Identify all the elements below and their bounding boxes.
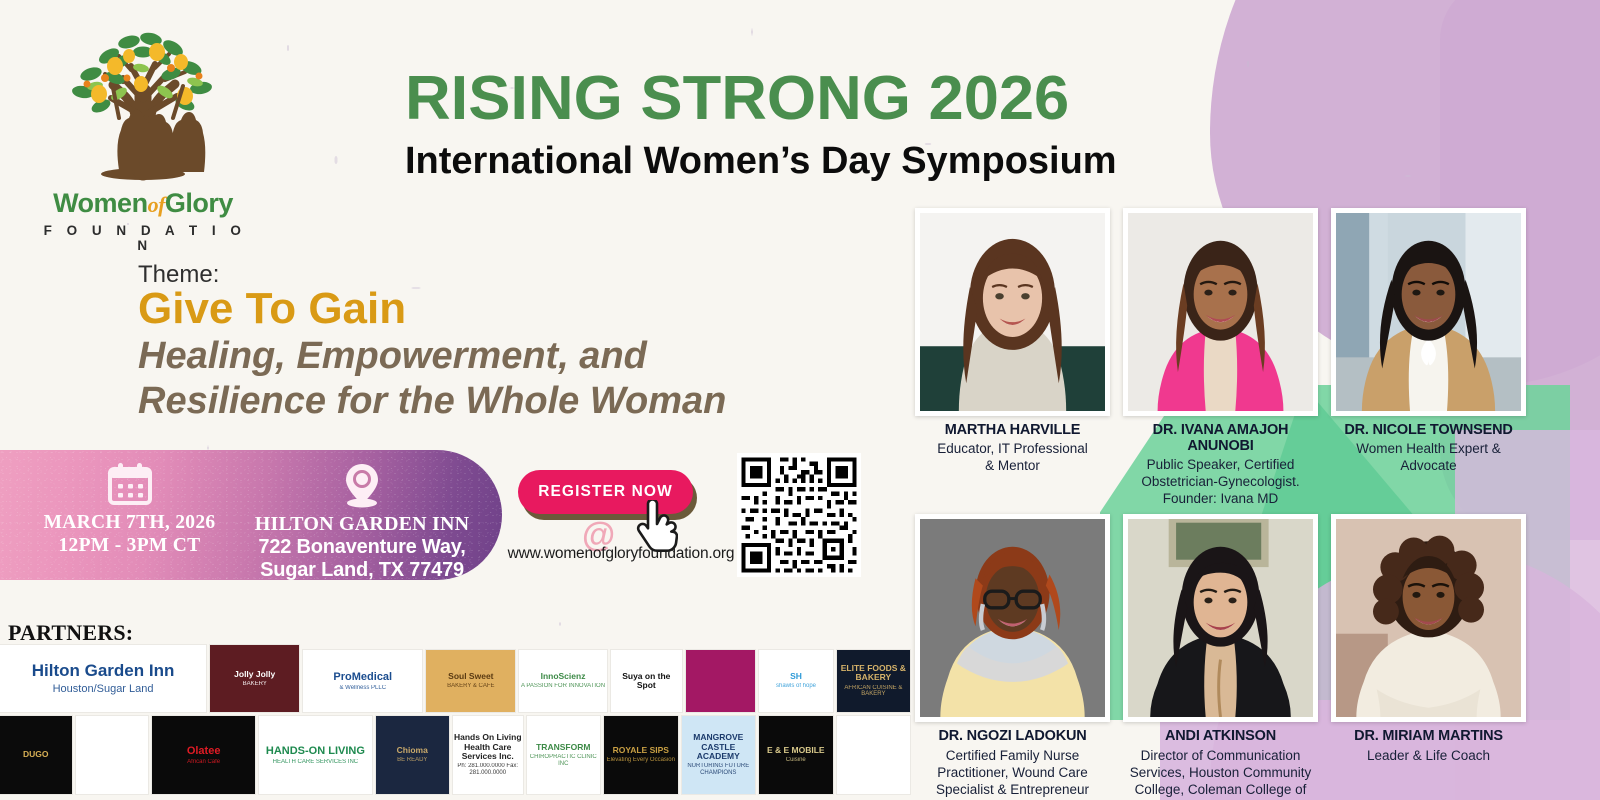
speaker-photo-nicole-townsend — [1331, 208, 1526, 416]
speaker-photo-miriam-martins — [1331, 514, 1526, 722]
partner-logos: Hilton Garden InnHouston/Sugar LandJolly… — [0, 645, 910, 794]
partner-logo-promedical-wellness-pllc[interactable]: ProMedical& Wellness PLLC — [303, 650, 422, 712]
logo-word-of: of — [148, 192, 165, 217]
partner-logo-name: Hilton Garden Inn — [31, 661, 176, 682]
partner-logo-tagline: NURTURING FUTURE CHAMPIONS — [682, 762, 756, 777]
partner-logo-name — [872, 754, 874, 756]
theme-headline: Give To Gain — [138, 286, 898, 332]
speaker-card[interactable]: MARTHA HARVILLE Educator, IT Professiona… — [915, 208, 1110, 507]
theme-sub-line-2: Resilience for the Whole Woman — [138, 380, 898, 423]
partner-logo-name: Suya on the Spot — [611, 671, 682, 692]
website-url[interactable]: www.womenofgloryfoundation.org — [497, 545, 745, 563]
theme-block: Theme: Give To Gain Healing, Empowerment… — [138, 262, 898, 423]
speaker-card[interactable]: DR. IVANA AMAJOH ANUNOBI Public Speaker,… — [1123, 208, 1318, 507]
venue-address-line-1: 722 Bonaventure Way, — [237, 536, 487, 558]
partner-logo-soul-sweet-bakery-cafe[interactable]: Soul SweetBAKERY & CAFE — [426, 650, 515, 712]
speaker-card[interactable]: DR. NICOLE TOWNSEND Women Health Expert … — [1331, 208, 1526, 507]
qr-code-image — [737, 453, 861, 577]
partner-logo-transform-chiropractic-clinic-inc[interactable]: TRANSFORMCHIROPRACTIC CLINIC INC — [527, 716, 601, 794]
speaker-card[interactable]: ANDI ATKINSON Director of Communication … — [1123, 514, 1318, 800]
partner-logo-chioma-be-ready[interactable]: ChiomaBE READY — [376, 716, 450, 794]
speaker-card[interactable]: DR. MIRIAM MARTINS Leader & Life Coach — [1331, 514, 1526, 800]
partner-logo-hands-on-living-health-care-services-inc[interactable]: Hands On Living Health Care Services Inc… — [453, 716, 523, 794]
qr-code[interactable] — [737, 453, 861, 577]
speaker-photo-ivana-amajoh-anunobi — [1123, 208, 1318, 416]
partner-logo-name: HANDS-ON LIVING — [265, 744, 366, 758]
date-column: MARCH 7TH, 2026 12PM - 3PM CT — [12, 462, 247, 557]
event-subtitle: International Women’s Day Symposium — [405, 142, 1145, 180]
partner-logo-name: ROYALE SIPS — [612, 745, 670, 756]
partner-logo-name: InnoScienz — [540, 671, 587, 682]
speaker-title: Women Health Expert & Advocate — [1331, 440, 1526, 474]
partner-logo-magenta-diamond-brand[interactable] — [686, 650, 755, 712]
partner-logo-name: Jolly Jolly — [233, 669, 276, 680]
cta-block: REGISTER NOW @ www.womenofgloryfoundatio… — [498, 470, 748, 514]
partner-logo-dugo[interactable]: DUGO — [0, 716, 72, 794]
partner-logo-e-e-mobile-cuisine[interactable]: E & E MOBILECuisine — [759, 716, 833, 794]
partner-logo-suya-on-the-spot[interactable]: Suya on the Spot — [611, 650, 682, 712]
partner-logo-tagline: shawls of hope — [775, 682, 817, 691]
partner-logo-olatee-african-cafe[interactable]: OlateeAfrican Cafe — [152, 716, 255, 794]
logo-word-women: Women — [53, 188, 148, 218]
speaker-photo-ngozi-ladokun — [915, 514, 1110, 722]
partner-logo-name: DUGO — [22, 749, 50, 760]
tree-logo-icon — [53, 22, 233, 188]
speaker-title: Public Speaker, Certified Obstetrician-G… — [1123, 456, 1318, 507]
speaker-photo-martha-harville — [915, 208, 1110, 416]
partner-logo-tagline: BAKERY — [242, 680, 268, 689]
theme-sub-line-1: Healing, Empowerment, and — [138, 335, 898, 378]
venue-column: HILTON GARDEN INN 722 Bonaventure Way, S… — [237, 462, 487, 580]
speaker-name: MARTHA HARVILLE — [915, 422, 1110, 438]
partner-logo-tagline: BAKERY & CAFE — [446, 682, 495, 691]
speaker-name: DR. IVANA AMAJOH ANUNOBI — [1123, 422, 1318, 454]
speaker-name: DR. MIRIAM MARTINS — [1331, 728, 1526, 744]
partner-logo-name: MANGROVE CASTLE ACADEMY — [682, 732, 756, 762]
partner-logo-tagline: CHIROPRACTIC CLINIC INC — [527, 753, 601, 768]
partner-logo-tagline: HEALTH CARE SERVICES INC — [272, 758, 359, 767]
partner-logo-hilton-garden-inn-houston-sugar-land[interactable]: Hilton Garden InnHouston/Sugar Land — [0, 645, 206, 712]
speaker-photo-andi-atkinson — [1123, 514, 1318, 722]
partner-logo-tagline: African Cafe — [186, 758, 221, 767]
partner-logo-name: Soul Sweet — [447, 671, 494, 682]
partner-logo-elite-foods-bakery[interactable]: ELITE FOODS & BAKERYAFRICAN CUISINE & BA… — [837, 650, 910, 712]
partners-label: PARTNERS: — [8, 620, 133, 646]
calendar-icon — [107, 462, 153, 506]
location-pin-icon — [341, 462, 383, 508]
partner-logo-tagline: Cuisine — [785, 756, 807, 765]
partner-logo-name: Olatee — [186, 744, 222, 758]
partner-logo-name — [720, 680, 722, 682]
partner-logo-name: Chioma — [396, 745, 429, 756]
logo-subtitle: F O U N D A T I O N — [42, 223, 248, 253]
partner-logo-tagline: A PASSION FOR INNOVATION — [520, 682, 606, 691]
speakers-grid: MARTHA HARVILLE Educator, IT Professiona… — [915, 208, 1525, 800]
headline-block: RISING STRONG 2026 International Women’s… — [405, 68, 1145, 180]
partner-logo-tagline: Ph: 281.000.0000 Fax: 281.000.0000 — [453, 762, 523, 777]
speaker-title: Certified Family Nurse Practitioner, Wou… — [915, 747, 1110, 798]
event-time: 12PM - 3PM CT — [12, 534, 247, 557]
partner-logo-name: Hands On Living Health Care Services Inc… — [453, 732, 523, 762]
speaker-title: Director of Communication Services, Hous… — [1123, 747, 1318, 800]
partner-logo-row-2: DUGOOlateeAfrican CafeHANDS-ON LIVINGHEA… — [0, 716, 910, 794]
speaker-name: ANDI ATKINSON — [1123, 728, 1318, 744]
partner-logo-global-care-heart-foundation[interactable] — [837, 716, 911, 794]
partner-logo-name: ProMedical — [332, 670, 393, 684]
partner-logo-hands-on-living-health-care-services-inc[interactable]: HANDS-ON LIVINGHEALTH CARE SERVICES INC — [259, 716, 371, 794]
logo-wordmark: WomenofGlory — [38, 190, 248, 217]
event-date: MARCH 7TH, 2026 — [12, 511, 247, 534]
partner-logo-name: SH — [789, 671, 803, 682]
partner-logo-name: TRANSFORM — [535, 742, 591, 753]
partner-logo-jolly-jolly-bakery[interactable]: Jolly JollyBAKERY — [210, 645, 299, 712]
speaker-name: DR. NGOZI LADOKUN — [915, 728, 1110, 744]
partner-logo-royale-sips[interactable]: ROYALE SIPSElevating Every Occasion — [604, 716, 678, 794]
partner-logo-mangrove-castle-academy[interactable]: MANGROVE CASTLE ACADEMYNURTURING FUTURE … — [682, 716, 756, 794]
partner-logo-tagline: & Wellness PLLC — [338, 684, 387, 693]
venue-name: HILTON GARDEN INN — [237, 513, 487, 535]
partner-logo-shawls-of-hope[interactable]: SHshawls of hope — [759, 650, 832, 712]
speaker-name: DR. NICOLE TOWNSEND — [1331, 422, 1526, 438]
foundation-logo: WomenofGlory F O U N D A T I O N — [38, 22, 248, 253]
speaker-card[interactable]: DR. NGOZI LADOKUN Certified Family Nurse… — [915, 514, 1110, 800]
partner-logo-tagline: BE READY — [396, 756, 428, 765]
venue-address-line-2: Sugar Land, TX 77479 — [237, 559, 487, 580]
event-details-banner: MARCH 7TH, 2026 12PM - 3PM CT HILTON GAR… — [0, 450, 502, 580]
logo-word-glory: Glory — [165, 188, 233, 218]
partner-logo-tagline: Houston/Sugar Land — [52, 682, 155, 696]
partner-logo-name: ELITE FOODS & BAKERY — [837, 663, 910, 684]
partner-logo-row-1: Hilton Garden InnHouston/Sugar LandJolly… — [0, 645, 910, 712]
partner-logo-innoscienz[interactable]: InnoScienzA PASSION FOR INNOVATION — [519, 650, 606, 712]
event-title: RISING STRONG 2026 — [405, 68, 1160, 130]
partner-logo-tagline: Elevating Every Occasion — [606, 756, 676, 765]
event-flyer: WomenofGlory F O U N D A T I O N RISING … — [0, 0, 1600, 800]
partner-logo-name: E & E MOBILE — [766, 745, 826, 756]
partner-logo-tagline: AFRICAN CUISINE & BAKERY — [837, 684, 910, 699]
speaker-title: Educator, IT Professional & Mentor — [915, 440, 1110, 474]
partner-logo-community-care-group[interactable] — [76, 716, 149, 794]
partner-logo-name — [111, 754, 113, 756]
speaker-title: Leader & Life Coach — [1331, 747, 1526, 764]
